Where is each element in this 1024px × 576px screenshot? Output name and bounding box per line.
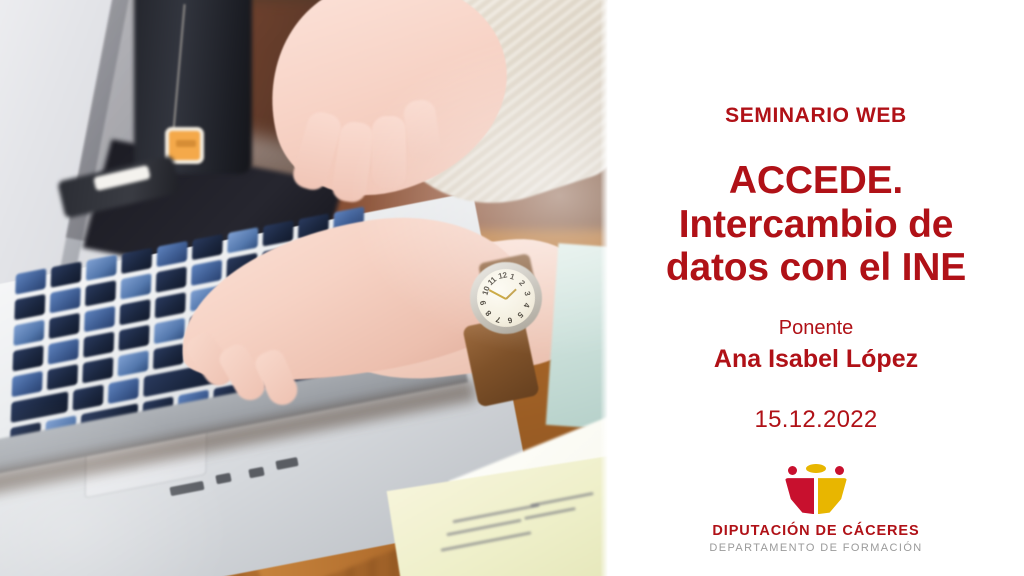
- watch-numeral: 5: [516, 310, 525, 319]
- emblem-wedge-gold: [818, 478, 847, 514]
- emblem-dot-right: [835, 466, 844, 475]
- diputacion-caceres-emblem-icon: [779, 464, 853, 514]
- speaker-name: Ana Isabel López: [714, 344, 918, 374]
- emblem-dot-top: [806, 464, 826, 473]
- seminar-kicker: SEMINARIO WEB: [725, 104, 907, 127]
- watch-numeral: 9: [479, 300, 488, 306]
- watch-numeral: 11: [487, 276, 499, 288]
- speaker-label: Ponente: [779, 316, 854, 340]
- emblem-wedge-red: [785, 478, 814, 514]
- watch-numeral: 2: [517, 279, 526, 288]
- organization-logo: DIPUTACIÓN DE CÁCERES DEPARTAMENTO DE FO…: [709, 464, 922, 554]
- title-line-1: ACCEDE.: [666, 159, 966, 203]
- title-line-3: datos con el INE: [666, 246, 966, 290]
- presentation-slide: 121234567891011 SEMINARIO WEB ACCEDE. In…: [0, 0, 1024, 576]
- title-line-2: Intercambio de: [666, 203, 966, 247]
- hero-photo: 121234567891011: [0, 0, 608, 576]
- watch-numeral: 12: [498, 271, 508, 281]
- event-date: 15.12.2022: [754, 406, 877, 434]
- logo-department-name: DEPARTAMENTO DE FORMACIÓN: [709, 542, 922, 554]
- watch-numeral: 3: [522, 291, 531, 297]
- watch-numeral: 8: [484, 309, 493, 318]
- emblem-dot-left: [788, 466, 797, 475]
- slide-text-panel: SEMINARIO WEB ACCEDE. Intercambio de dat…: [608, 0, 1024, 576]
- watch-numeral: 6: [507, 315, 513, 324]
- watch-numeral: 7: [495, 315, 502, 324]
- finger: [372, 116, 406, 188]
- logo-organization-name: DIPUTACIÓN DE CÁCERES: [712, 523, 919, 539]
- watch-numeral: 1: [509, 273, 516, 282]
- watch-numeral: 4: [522, 302, 531, 309]
- slide-title: ACCEDE. Intercambio de datos con el INE: [666, 159, 966, 290]
